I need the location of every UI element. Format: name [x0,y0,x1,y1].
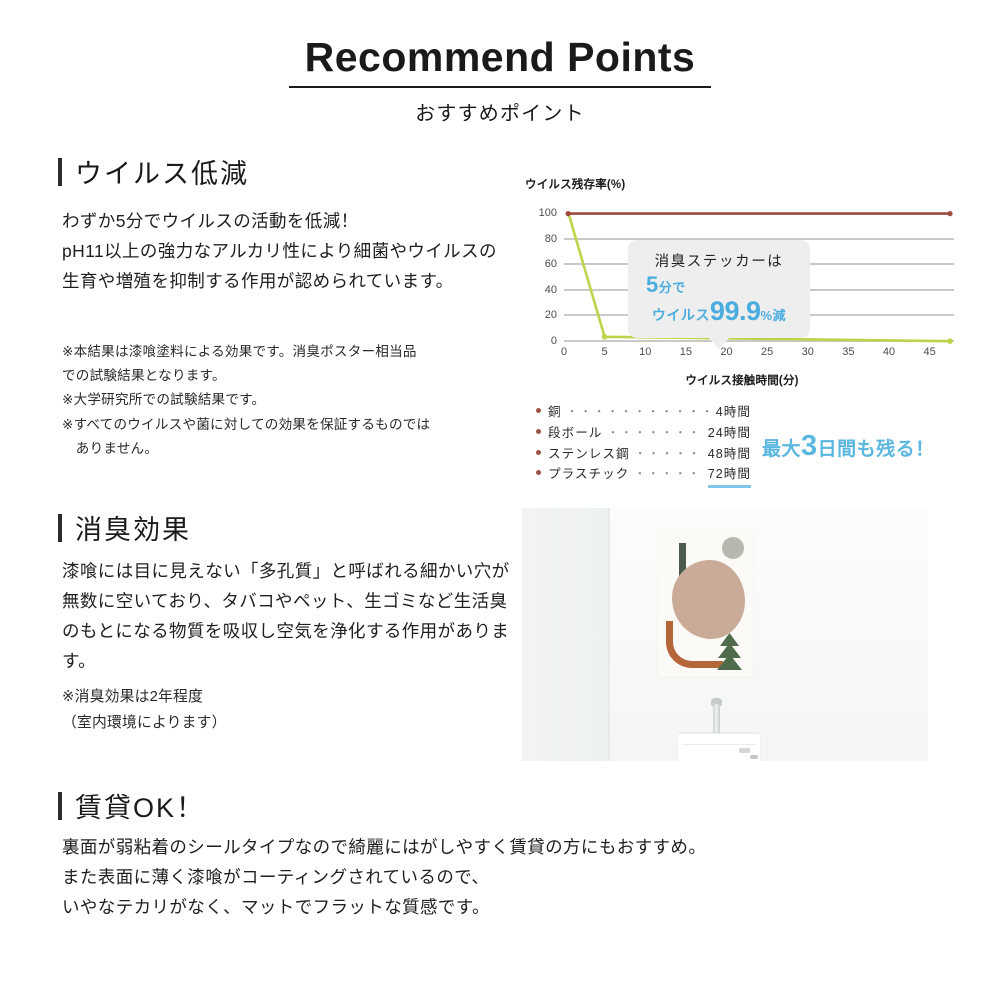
callout-minutes-unit: 分 [659,280,673,295]
legend-value-stainless: 48時間 [708,444,751,464]
series-point-control-start [566,211,571,216]
legend-leader-dots-cardboard: ・・・・・・・・ [607,425,702,443]
max-days-callout: 最大3日間も残る！ [762,430,935,463]
x-tick-45: 45 [923,346,935,358]
interior-poster-photo [522,508,928,761]
material-survival-legend: 銅 ・・・・・・・・・・・ 4時間 段ボール ・・・・・・・・ 24時間 ステン… [536,402,751,488]
poster-hook-shape [666,621,723,668]
callout-reduction-value: 99.9 [710,296,761,326]
page-subtitle: おすすめポイント [0,97,1000,126]
callout-line-1: 消臭ステッカーは [642,250,796,271]
legend-value-copper: 4時間 [716,402,751,422]
series-point-control-end [947,211,952,216]
tank-brand-badge [739,748,750,753]
legend-row-plastic: プラスチック ・・・・・ 72時間 [536,464,751,487]
tank-seam-line [682,744,756,745]
page-header: Recommend Points おすすめポイント [0,34,1000,126]
legend-row-stainless: ステンレス鋼 ・・・・・ 48時間 [536,444,751,465]
callout-virus-prefix: ウイルス [652,307,710,323]
y-tick-100: 100 [539,207,557,219]
legend-label-plastic: プラスチック [548,464,629,484]
tank-flush-handle [750,755,758,759]
max-days-prefix: 最大 [762,439,801,460]
x-tick-15: 15 [680,346,692,358]
bullet-dot-icon [536,408,541,413]
page-title: Recommend Points [289,34,712,88]
x-tick-30: 30 [802,346,814,358]
legend-value-cardboard: 24時間 [708,423,751,443]
callout-minutes-value: 5 [646,272,659,297]
poster-circle-shape [722,537,744,559]
heading-bar-icon [58,514,62,542]
legend-leader-dots-plastic: ・・・・・ [634,466,702,484]
section-heading-virus: ウイルス低減 [58,152,249,191]
x-tick-25: 25 [761,346,773,358]
section-title-deodorize: 消臭効果 [75,508,191,547]
bullet-dot-icon [536,429,541,434]
section-heading-deodorize: 消臭効果 [58,508,191,547]
callout-minutes-tail: で [672,280,686,295]
legend-row-cardboard: 段ボール ・・・・・・・・ 24時間 [536,423,751,444]
legend-leader-dots-stainless: ・・・・・ [635,446,703,464]
y-tick-60: 60 [545,258,557,270]
legend-row-copper: 銅 ・・・・・・・・・・・ 4時間 [536,402,751,423]
section-body-virus: わずか5分でウイルスの活動を低減！ pH11以上の強力なアルカリ性により細菌やウ… [62,206,514,296]
section-notes-deodorize: ※消臭効果は2年程度 （室内環境によります） [62,684,502,737]
legend-leader-dots-copper: ・・・・・・・・・・・ [567,404,711,422]
chart-x-axis-label: ウイルス接触時間(分) [522,372,962,388]
chart-callout-bubble: 消臭ステッカーは 5分で ウイルス99.9%減 [628,240,810,338]
bullet-dot-icon [536,450,541,455]
y-tick-0: 0 [551,335,557,347]
wall-left-panel [522,508,608,761]
x-tick-0: 0 [561,346,567,358]
x-tick-10: 10 [639,346,651,358]
y-tick-80: 80 [545,233,557,245]
series-point-sticker-5 [602,334,608,340]
toilet-tank [678,733,760,761]
callout-line-2: 5分で [642,273,796,297]
max-days-suffix: 日間も残る！ [818,439,935,460]
legend-value-plastic: 72時間 [708,464,751,487]
x-tick-5: 5 [602,346,608,358]
y-tick-40: 40 [545,284,557,296]
section-heading-rental: 賃貸OK！ [58,786,205,825]
section-body-deodorize: 漆喰には目に見えない「多孔質」と呼ばれる細かい穴が無数に空いており、タバコやペッ… [62,556,510,676]
max-days-number: 3 [801,430,818,462]
legend-label-cardboard: 段ボール [548,423,602,443]
section-title-virus: ウイルス低減 [75,152,249,191]
faucet-spout [713,704,720,734]
chart-y-axis-label: ウイルス残存率(%) [525,176,625,192]
section-body-rental: 裏面が弱粘着のシールタイプなので綺麗にはがしやすく賃貸の方にもおすすめ。 また表… [62,832,862,922]
x-tick-35: 35 [842,346,854,358]
y-tick-20: 20 [545,309,557,321]
poster-tree-icon [717,633,742,670]
legend-label-copper: 銅 [548,402,562,422]
x-tick-40: 40 [883,346,895,358]
callout-reduction-tail: 減 [773,308,787,323]
heading-bar-icon [58,158,62,186]
callout-percent-sign: % [760,308,772,323]
section-title-rental: 賃貸OK！ [75,786,205,825]
bullet-dot-icon [536,470,541,475]
callout-line-3: ウイルス99.9%減 [642,297,796,326]
heading-bar-icon [58,792,62,820]
art-poster [658,529,753,677]
series-point-sticker-end [947,338,953,344]
section-notes-virus: ※本結果は漆喰塗料による効果です。消臭ポスター相当品 での試験結果となります。 … [62,340,518,461]
legend-label-stainless: ステンレス鋼 [548,444,630,464]
